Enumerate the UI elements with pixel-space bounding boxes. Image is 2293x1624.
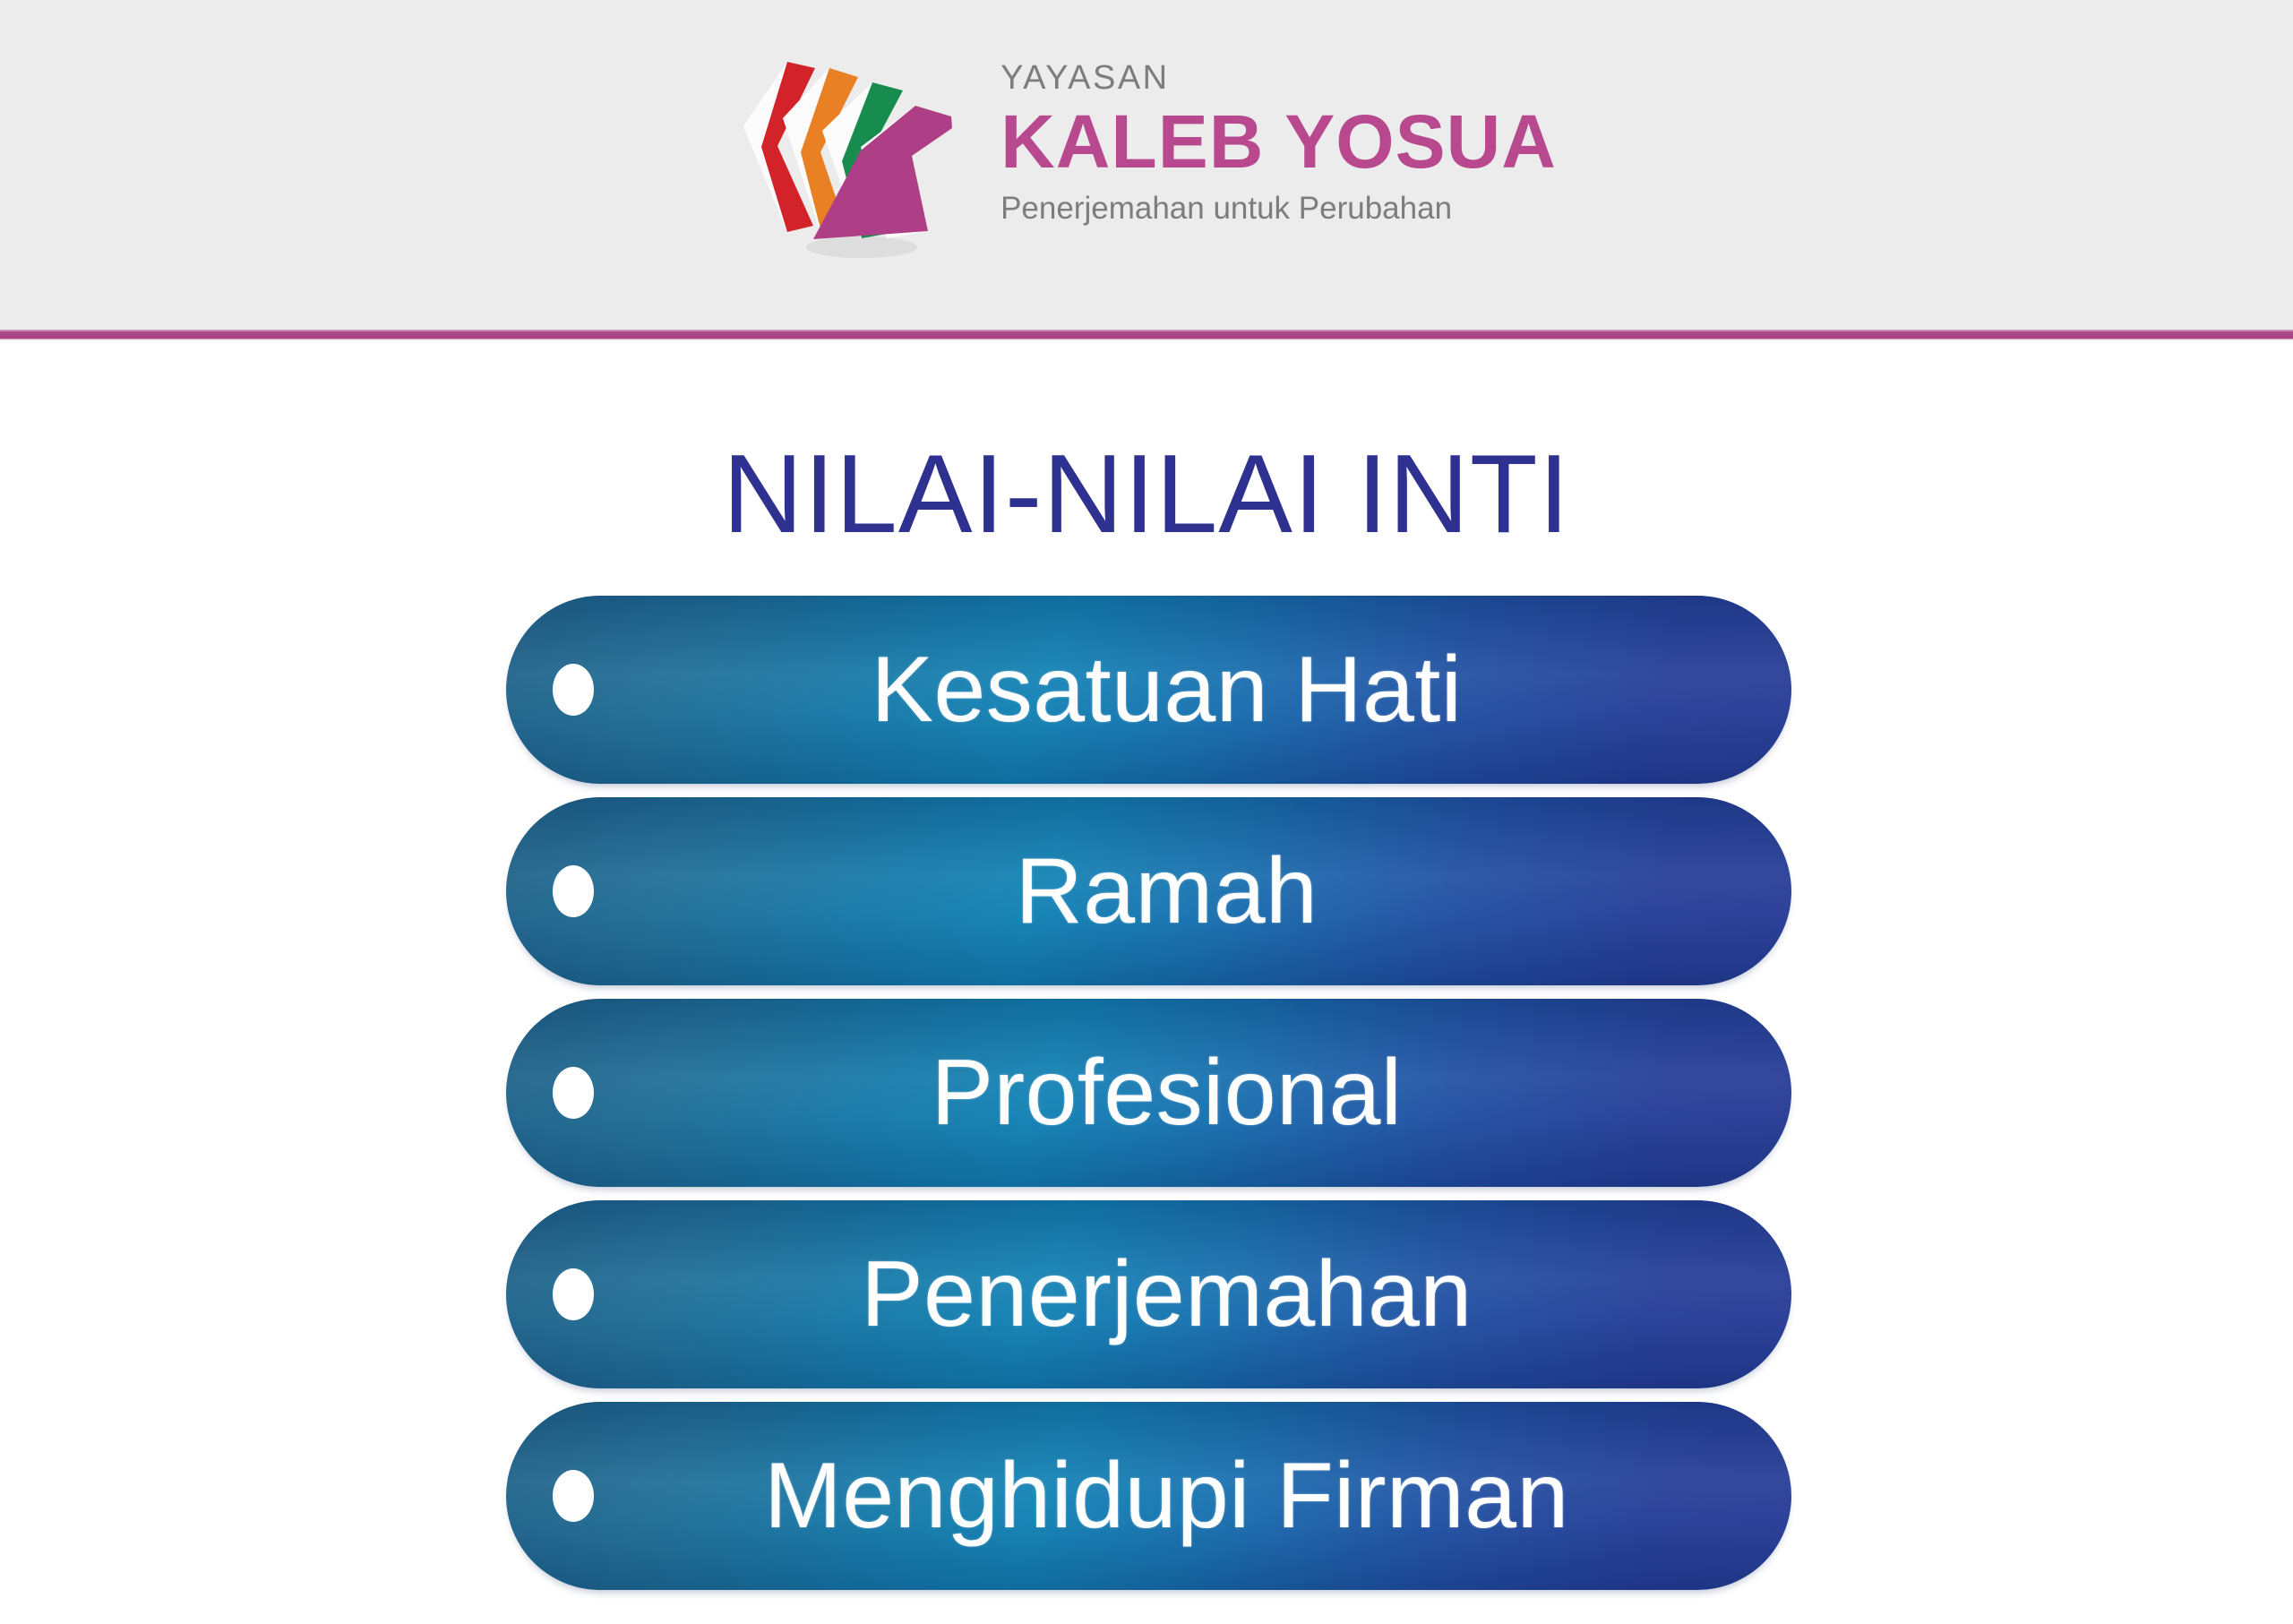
logo-shadow-ellipse xyxy=(806,236,917,258)
brand-text: YAYASAN KALEB YOSUA Penerjemahan untuk P… xyxy=(1001,61,1557,224)
brand-tagline: Penerjemahan untuk Perubahan xyxy=(1001,193,1557,224)
list-item-label: Menghidupi Firman xyxy=(506,1449,1791,1542)
core-values-list: Kesatuan Hati Ramah Profesional Penerjem… xyxy=(506,596,1791,1603)
list-item[interactable]: Ramah xyxy=(506,797,1791,985)
list-item[interactable]: Kesatuan Hati xyxy=(506,596,1791,784)
list-item[interactable]: Penerjemahan xyxy=(506,1200,1791,1388)
list-item[interactable]: Menghidupi Firman xyxy=(506,1402,1791,1590)
list-item-label: Profesional xyxy=(506,1046,1791,1139)
page-title: NILAI-NILAI INTI xyxy=(0,439,2293,550)
list-item-label: Ramah xyxy=(506,845,1791,938)
list-item-label: Kesatuan Hati xyxy=(506,643,1791,736)
fanned-books-logo-icon xyxy=(736,41,974,270)
brand-name: KALEB YOSUA xyxy=(1001,102,1557,182)
header-accent-rule xyxy=(0,330,2293,340)
main-content: NILAI-NILAI INTI Kesatuan Hati Ramah Pro… xyxy=(0,340,2293,1624)
brand-kicker: YAYASAN xyxy=(1001,61,1557,95)
list-item-label: Penerjemahan xyxy=(506,1248,1791,1341)
brand-block: YAYASAN KALEB YOSUA Penerjemahan untuk P… xyxy=(0,0,2293,330)
list-item[interactable]: Profesional xyxy=(506,999,1791,1187)
